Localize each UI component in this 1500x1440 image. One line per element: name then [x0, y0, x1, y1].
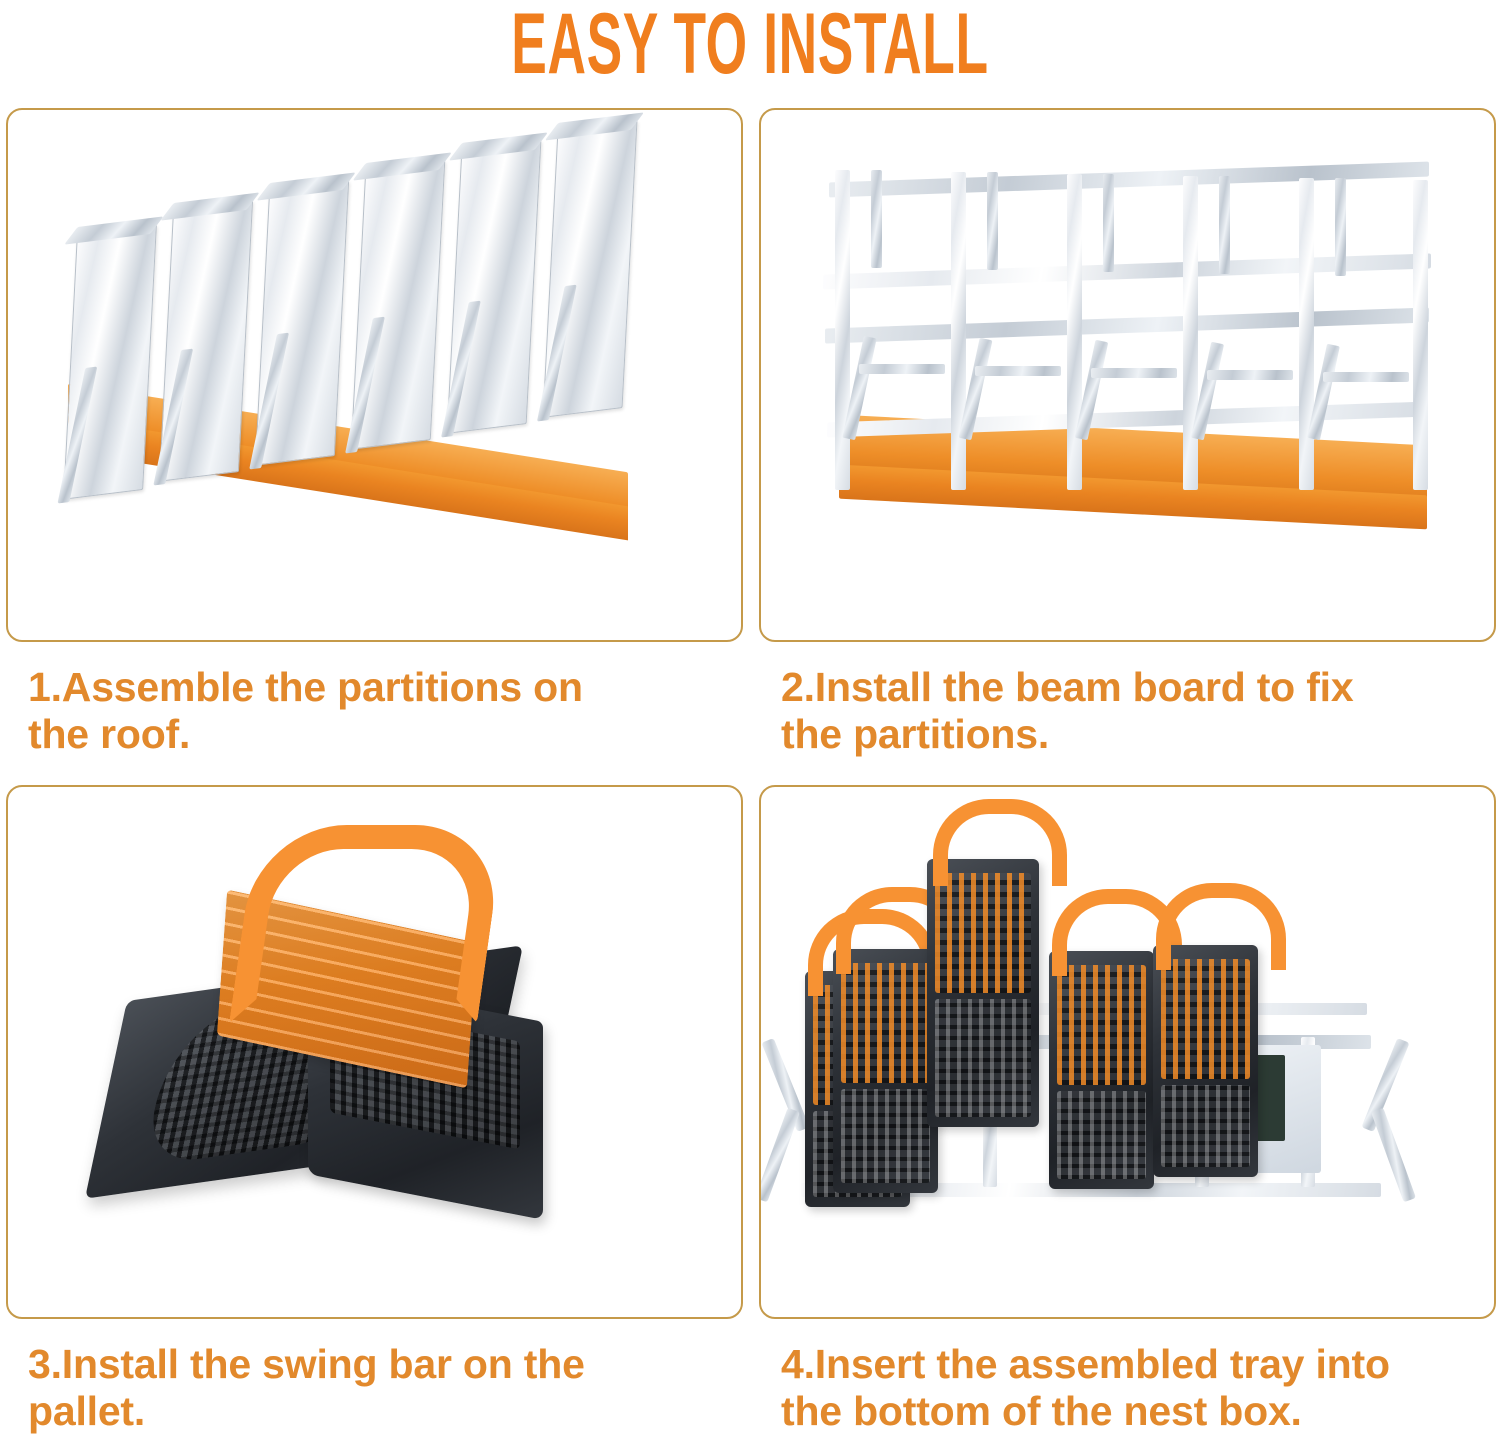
inner-cross-beam	[975, 366, 1061, 376]
steel-partition-panel	[543, 120, 638, 418]
page-title: EASY TO INSTALL	[285, 0, 1215, 92]
partitions-on-roof-illustration	[8, 110, 741, 640]
step-4-cell: 4.Insert the assembled tray into the bot…	[759, 785, 1494, 1435]
partition-brace	[537, 285, 577, 422]
assembled-tray	[1049, 951, 1154, 1189]
step-1-image-panel	[6, 108, 743, 642]
tray-perforation-lower	[841, 1089, 930, 1183]
tray-perforation-upper	[935, 873, 1031, 993]
frame-leg	[759, 1108, 800, 1203]
partition-brace	[345, 317, 385, 454]
step-2-caption-line1: 2.Install the beam board to fix	[781, 664, 1481, 711]
step-1-caption: 1.Assemble the partitions on the roof.	[6, 664, 728, 758]
steel-depth-post	[987, 172, 998, 270]
step-1-cell: 1.Assemble the partitions on the roof.	[6, 108, 741, 758]
partition-top-edge	[545, 112, 644, 140]
steel-depth-post	[1219, 176, 1230, 274]
step-1-caption-line2: the roof.	[28, 711, 728, 758]
swing-bar-pallet-illustration	[8, 787, 741, 1317]
step-4-caption-line2: the bottom of the nest box.	[781, 1388, 1481, 1435]
assembled-tray	[1153, 945, 1258, 1177]
assembled-tray	[927, 859, 1039, 1127]
steel-depth-post	[1335, 178, 1346, 276]
steel-partition-panel	[351, 160, 446, 450]
nest-box-frame	[813, 168, 1443, 568]
steel-partition-post	[1183, 176, 1198, 490]
step-2-cell: 2.Install the beam board to fix the part…	[759, 108, 1494, 758]
partition-brace	[57, 367, 97, 504]
steel-partition-panel	[447, 140, 542, 434]
step-4-image-panel	[759, 785, 1496, 1319]
tray-perforation-lower	[935, 999, 1031, 1117]
partition-top-edge	[353, 152, 452, 180]
steel-partition-post	[1299, 178, 1314, 490]
inner-cross-beam	[1207, 370, 1293, 380]
steel-partition-post	[1413, 180, 1428, 490]
inner-cross-beam	[859, 364, 945, 374]
swing-bar-handle	[933, 799, 1067, 886]
infographic-page: EASY TO INSTALL	[0, 0, 1500, 1440]
step-4-caption-line1: 4.Insert the assembled tray into	[781, 1341, 1481, 1388]
partition-top-edge	[160, 192, 259, 220]
steel-depth-post	[871, 170, 882, 268]
tray-insertion-illustration	[761, 787, 1494, 1317]
tray-perforation-lower	[1161, 1085, 1250, 1167]
tray-perforation-upper	[1161, 959, 1250, 1079]
tray-perforation-lower	[1057, 1091, 1146, 1179]
step-2-image-panel	[759, 108, 1496, 642]
steel-depth-post	[1103, 174, 1114, 272]
tray-perforation-upper	[841, 963, 930, 1083]
partition-top-edge	[64, 216, 163, 244]
steel-partition-panel	[159, 200, 253, 482]
step-4-caption: 4.Insert the assembled tray into the bot…	[759, 1341, 1481, 1435]
partition-top-edge	[256, 172, 355, 200]
partition-brace	[249, 333, 289, 470]
partition-top-edge	[449, 132, 548, 160]
beam-board-middle	[825, 307, 1429, 343]
step-1-caption-line1: 1.Assemble the partitions on	[28, 664, 728, 711]
steel-partition-post	[835, 170, 850, 490]
inner-cross-beam	[1091, 368, 1177, 378]
steel-partition-panel	[255, 180, 349, 466]
step-2-caption-line2: the partitions.	[781, 711, 1481, 758]
beam-board-frame-illustration	[761, 110, 1494, 640]
assembled-tray	[833, 949, 938, 1193]
step-2-caption: 2.Install the beam board to fix the part…	[759, 664, 1481, 758]
step-3-caption-line1: 3.Install the swing bar on the	[28, 1341, 728, 1388]
inner-cross-beam	[1323, 372, 1409, 382]
swing-bar-handle	[229, 825, 505, 1023]
steel-partition-post	[951, 172, 966, 490]
partition-brace	[441, 301, 481, 438]
steel-partition-post	[1067, 174, 1082, 490]
step-3-caption-line2: pallet.	[28, 1388, 728, 1435]
steel-partition-panel	[63, 224, 157, 500]
tray-perforation-upper	[1057, 965, 1146, 1085]
step-3-image-panel	[6, 785, 743, 1319]
swing-bar-handle	[1156, 883, 1286, 970]
step-3-caption: 3.Install the swing bar on the pallet.	[6, 1341, 728, 1435]
step-3-cell: 3.Install the swing bar on the pallet.	[6, 785, 741, 1435]
